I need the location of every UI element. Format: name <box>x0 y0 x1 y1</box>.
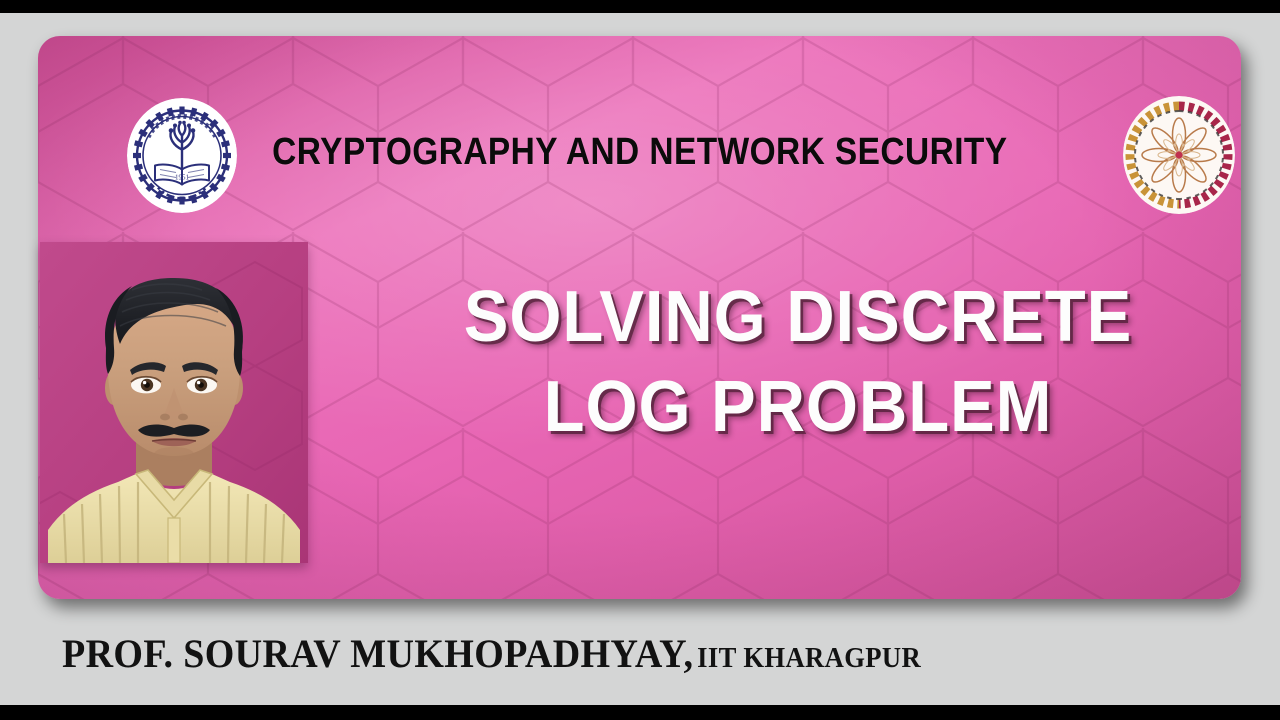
presenter-affiliation: IIT KHARAGPUR <box>697 643 921 674</box>
lecture-title-line-2: LOG PROBLEM <box>426 362 1170 452</box>
presenter-photo <box>40 242 308 563</box>
lecture-title-line-1: SOLVING DISCRETE <box>426 272 1170 362</box>
svg-text:1951: 1951 <box>175 174 190 182</box>
iit-kharagpur-logo-icon: 1951 <box>127 98 237 213</box>
letterbox-bottom <box>0 705 1280 720</box>
presenter-name: PROF. SOURAV MUKHOPADHYAY, <box>62 631 693 676</box>
course-title: CRYPTOGRAPHY AND NETWORK SECURITY <box>272 131 1007 174</box>
presenter-name-bar: PROF. SOURAV MUKHOPADHYAY, IIT KHARAGPUR <box>0 612 1280 694</box>
video-frame: 1951 <box>0 0 1280 720</box>
nptel-logo-icon <box>1123 96 1235 214</box>
letterbox-top <box>0 0 1280 13</box>
lecture-title: SOLVING DISCRETE LOG PROBLEM <box>398 272 1198 452</box>
presenter-name-group: PROF. SOURAV MUKHOPADHYAY, IIT KHARAGPUR <box>62 630 921 677</box>
